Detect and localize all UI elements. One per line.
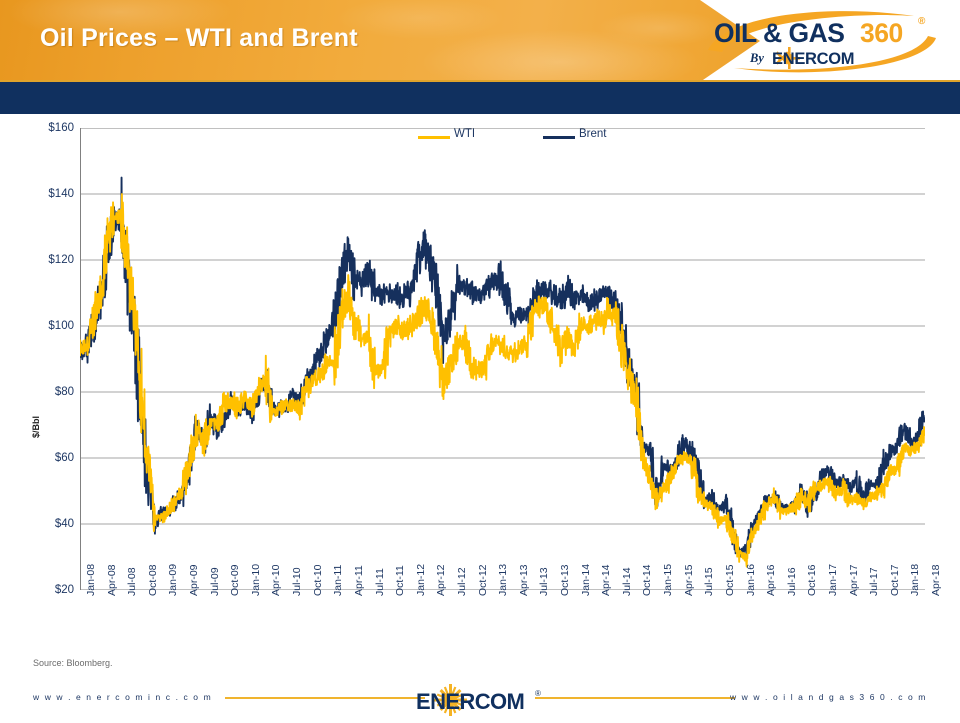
legend-swatch-brent — [543, 136, 575, 139]
slide: Oil Prices – WTI and Brent OIL & GAS 360… — [0, 0, 960, 720]
x-tick-label: Jan-09 — [167, 564, 179, 596]
x-tick-label: Jul-13 — [538, 567, 550, 596]
x-tick-label: Apr-09 — [188, 564, 200, 596]
x-tick-label: Apr-17 — [848, 564, 860, 596]
footer-rule-left — [225, 697, 425, 699]
x-tick-label: Jan-14 — [580, 564, 592, 596]
x-tick-label: Oct-10 — [312, 564, 324, 596]
x-tick-label: Jan-16 — [745, 564, 757, 596]
x-tick-label: Jan-17 — [827, 564, 839, 596]
x-tick-label: Apr-12 — [435, 564, 447, 596]
svg-text:By: By — [749, 51, 764, 65]
x-tick-label: Apr-13 — [518, 564, 530, 596]
oil-and-gas-360-logo: OIL & GAS 360 ® By ENERCOM — [700, 6, 946, 80]
x-tick-label: Oct-13 — [559, 564, 571, 596]
x-tick-label: Oct-08 — [147, 564, 159, 596]
x-tick-label: Jul-10 — [291, 567, 303, 596]
x-tick-label: Oct-12 — [477, 564, 489, 596]
x-tick-label: Jan-15 — [662, 564, 674, 596]
source-note: Source: Bloomberg. — [33, 658, 113, 668]
x-tick-label: Jul-17 — [868, 567, 880, 596]
enercom-logo: ENERCOM ® — [408, 682, 558, 718]
svg-text:360: 360 — [860, 18, 903, 48]
x-tick-label: Oct-16 — [806, 564, 818, 596]
footer-rule-right — [535, 697, 735, 699]
x-tick-label: Jan-12 — [415, 564, 427, 596]
y-tick-label: $100 — [18, 320, 74, 332]
x-tick-label: Apr-14 — [600, 564, 612, 596]
x-tick-label: Apr-15 — [683, 564, 695, 596]
y-axis-title: $/Bbl — [31, 397, 41, 457]
x-tick-label: Oct-15 — [724, 564, 736, 596]
series-line-wti — [80, 194, 925, 567]
y-tick-label: $120 — [18, 254, 74, 266]
svg-text:®: ® — [918, 16, 926, 27]
gridlines — [80, 128, 925, 590]
x-tick-label: Oct-17 — [889, 564, 901, 596]
svg-text:OIL & GAS: OIL & GAS — [714, 18, 844, 48]
slide-header: Oil Prices – WTI and Brent OIL & GAS 360… — [0, 0, 960, 82]
chart-container: $/Bbl $160 $140 $120 $100 $80 $60 $40 $2… — [0, 114, 960, 644]
y-tick-label: $160 — [18, 122, 74, 134]
x-tick-label: Apr-16 — [765, 564, 777, 596]
x-tick-label: Jul-14 — [621, 567, 633, 596]
legend-swatch-wti — [418, 136, 450, 139]
svg-text:ENERCOM: ENERCOM — [416, 689, 524, 714]
footer-link-oilandgas360[interactable]: w w w . o i l a n d g a s 3 6 0 . c o m — [730, 692, 927, 702]
x-tick-label: Jan-10 — [250, 564, 262, 596]
footer-link-enercominc[interactable]: w w w . e n e r c o m i n c . c o m — [33, 692, 212, 702]
chart-legend: WTI Brent — [80, 128, 925, 150]
y-tick-label: $80 — [18, 386, 74, 398]
y-tick-label: $20 — [18, 584, 74, 596]
x-tick-label: Jul-16 — [786, 567, 798, 596]
legend-label-brent: Brent — [579, 128, 607, 140]
plot-area — [80, 128, 925, 590]
svg-text:ENERCOM: ENERCOM — [772, 50, 854, 68]
x-tick-label: Apr-18 — [930, 564, 942, 596]
x-tick-label: Oct-14 — [641, 564, 653, 596]
x-tick-label: Jul-15 — [703, 567, 715, 596]
x-tick-label: Apr-11 — [353, 565, 365, 596]
x-tick-label: Apr-10 — [270, 564, 282, 596]
slide-footer: w w w . e n e r c o m i n c . c o m ENER… — [0, 686, 960, 720]
x-tick-label: Jul-08 — [126, 567, 138, 596]
x-tick-label: Apr-08 — [106, 564, 118, 596]
x-tick-label: Jan-08 — [85, 564, 97, 596]
y-tick-label: $140 — [18, 188, 74, 200]
x-tick-label: Jul-09 — [209, 567, 221, 596]
x-tick-label: Jan-13 — [497, 564, 509, 596]
x-tick-label: Oct-09 — [229, 564, 241, 596]
x-axis-tick-labels: Jan-08Apr-08Jul-08Oct-08Jan-09Apr-09Jul-… — [80, 592, 925, 682]
x-tick-label: Oct-11 — [394, 565, 406, 596]
x-tick-label: Jul-12 — [456, 567, 468, 596]
legend-label-wti: WTI — [454, 128, 475, 140]
header-navy-bar — [0, 82, 960, 114]
x-tick-label: Jan-18 — [909, 564, 921, 596]
y-tick-label: $40 — [18, 518, 74, 530]
y-tick-label: $60 — [18, 452, 74, 464]
page-title: Oil Prices – WTI and Brent — [40, 24, 358, 53]
x-tick-label: Jul-11 — [374, 568, 386, 596]
x-tick-label: Jan-11 — [332, 565, 344, 596]
